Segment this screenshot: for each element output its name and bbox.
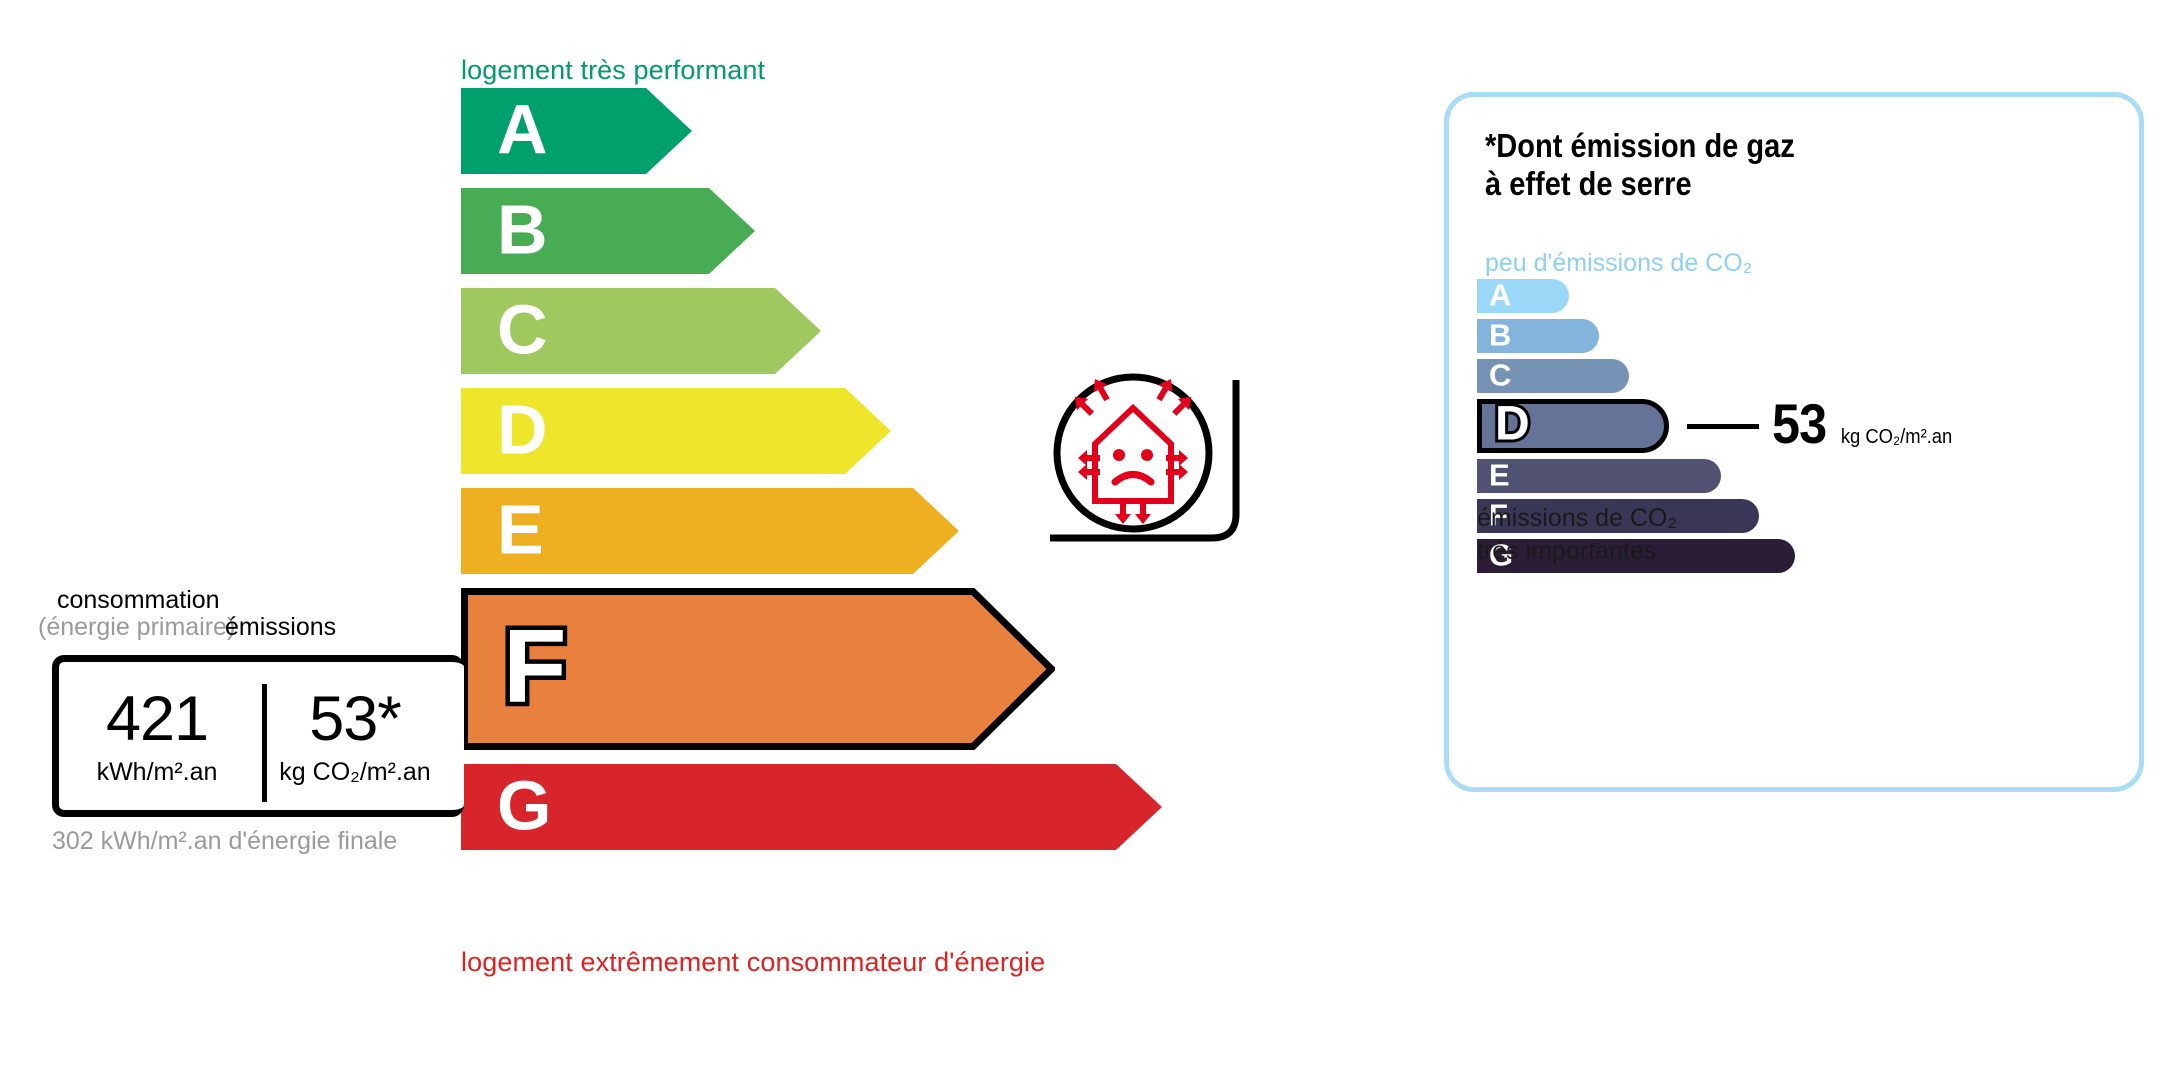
ges-class-bar-d: D (1477, 399, 1669, 453)
energy-class-letter-a: A (497, 95, 548, 165)
energy-class-letter-b: B (497, 195, 548, 265)
sad-house-heat-loss-icon (1052, 372, 1214, 534)
primary-energy-number: 421 (59, 688, 255, 751)
label-emissions: émissions (225, 613, 336, 641)
energy-class-bar-d: D (461, 388, 891, 474)
energy-class-letter-c: C (497, 295, 548, 365)
primary-energy-unit: kWh/m².an (59, 760, 255, 785)
ges-class-letter-a: A (1489, 280, 1511, 311)
bar-shape-g (461, 764, 1162, 850)
ges-caption-bottom: émissions de CO₂ très importantes (1477, 502, 1677, 567)
value-box: 421 kWh/m².an 53* kg CO₂/m².an (52, 655, 464, 817)
energy-class-letter-g: G (497, 771, 551, 841)
ges-value: 53 kg CO₂/m².an (1769, 396, 1957, 452)
energy-class-bar-f: F (461, 588, 1055, 750)
energy-class-letter-d: D (497, 395, 548, 465)
ges-title: *Dont émission de gaz à effet de serre (1485, 127, 1795, 202)
energy-class-bar-b: B (461, 188, 755, 274)
scale-caption-top: logement très performant (461, 55, 765, 86)
energy-class-bar-g: G (461, 764, 1162, 850)
energy-class-bar-c: C (461, 288, 821, 374)
label-energie-primaire: (énergie primaire) (38, 613, 235, 641)
emissions-value: 53* kg CO₂/m².an (255, 688, 455, 785)
energy-class-bar-a: A (461, 88, 692, 174)
ges-class-letter-d: D (1495, 401, 1530, 449)
ges-leader-line (1687, 424, 1759, 429)
ges-class-bar-c: C (1477, 359, 1629, 393)
energy-class-letter-f: F (503, 615, 567, 719)
ges-class-bar-a: A (1477, 279, 1569, 313)
final-energy-note: 302 kWh/m².an d'énergie finale (52, 825, 397, 859)
emissions-unit: kg CO₂/m².an (255, 760, 455, 785)
ges-value-unit: kg CO₂/m².an (1841, 426, 1952, 449)
ges-value-number: 53 (1772, 396, 1826, 452)
ges-caption-top: peu d'émissions de CO₂ (1485, 249, 1752, 278)
emissions-number: 53* (255, 688, 455, 751)
ges-bar-shape-e (1477, 459, 1721, 493)
ges-class-bar-b: B (1477, 319, 1599, 353)
ges-class-letter-e: E (1489, 460, 1510, 491)
scale-caption-bottom: logement extrêmement consommateur d'éner… (461, 947, 1045, 978)
energy-class-letter-e: E (497, 495, 544, 565)
ges-class-letter-c: C (1489, 360, 1511, 391)
ges-panel: *Dont émission de gaz à effet de serre p… (1444, 92, 2144, 792)
label-consommation: consommation (57, 586, 220, 614)
bar-shape-a (461, 88, 692, 174)
energy-class-bar-e: E (461, 488, 959, 574)
energy-consumption-panel: logement très performant ABCDEFG logemen… (0, 0, 1400, 1079)
ges-class-letter-b: B (1489, 320, 1511, 351)
value-divider (262, 684, 267, 802)
dpe-label: logement très performant ABCDEFG logemen… (0, 0, 2169, 1079)
ges-class-bar-e: E (1477, 459, 1721, 493)
primary-energy-value: 421 kWh/m².an (59, 688, 255, 785)
